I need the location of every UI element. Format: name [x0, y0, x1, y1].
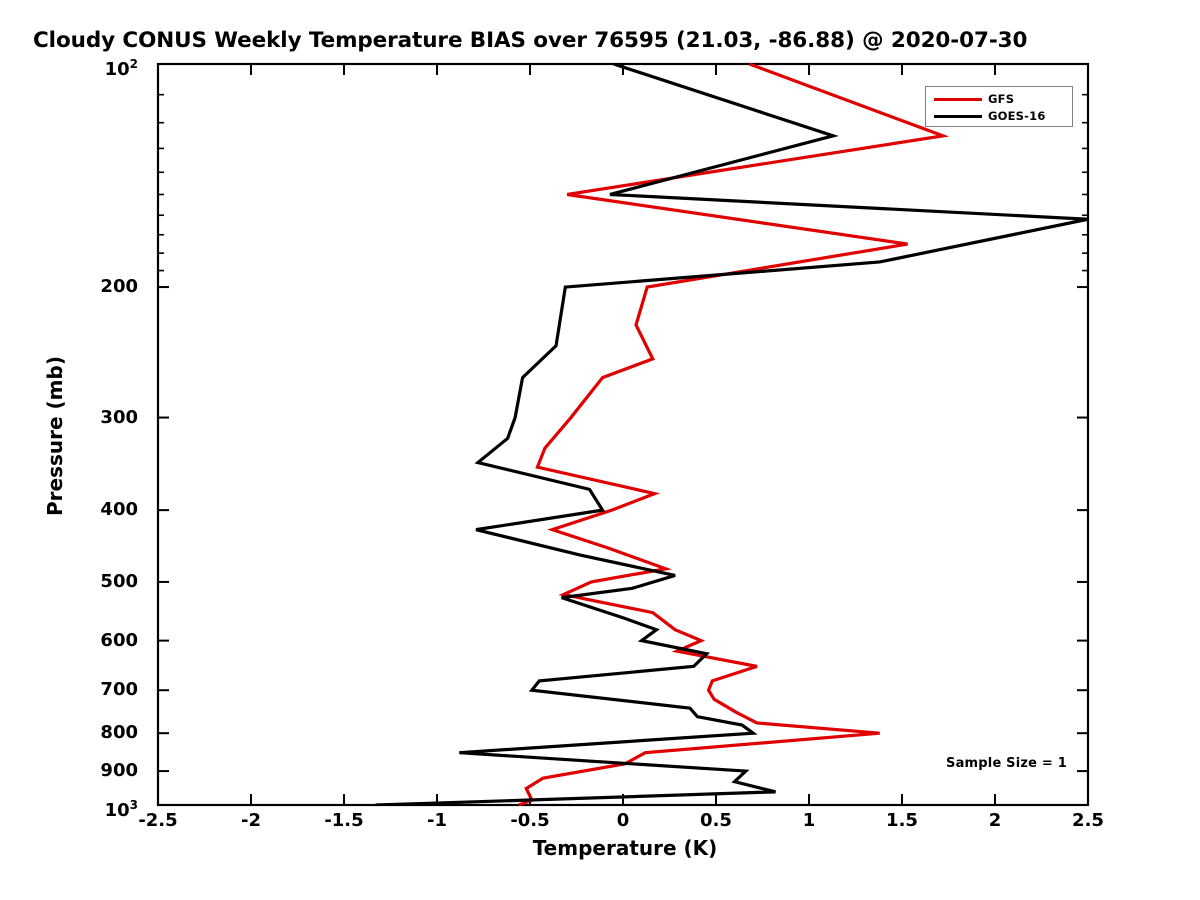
y-tick-label-8: 900	[48, 760, 138, 782]
legend-label: GOES-16	[988, 107, 1046, 125]
y-tick-label-0: 102	[48, 53, 138, 75]
x-tick-label-5: 0	[583, 810, 663, 831]
x-tick-label-8: 1.5	[862, 810, 942, 831]
x-tick-label-6: 0.5	[676, 810, 756, 831]
y-tick-label-4: 500	[48, 571, 138, 593]
x-tick-label-2: -1.5	[304, 810, 384, 831]
y-tick-label-7: 800	[48, 722, 138, 744]
series-line-gfs	[519, 64, 943, 805]
legend-swatch-line	[934, 115, 982, 118]
x-axis-label: Temperature (K)	[0, 836, 1200, 860]
x-tick-label-10: 2.5	[1048, 810, 1128, 831]
chart-legend: GFSGOES-16	[925, 86, 1073, 127]
y-tick-label-1: 200	[48, 276, 138, 298]
x-tick-label-9: 2	[955, 810, 1035, 831]
sample-size-annotation: Sample Size = 1	[946, 756, 1067, 771]
x-tick-label-1: -2	[211, 810, 291, 831]
legend-entry-goes-16: GOES-16	[926, 107, 1074, 125]
legend-label: GFS	[988, 90, 1014, 108]
exponent: 3	[130, 798, 138, 812]
figure-container: Cloudy CONUS Weekly Temperature BIAS ove…	[0, 0, 1200, 900]
y-tick-label-9: 103	[48, 794, 138, 816]
y-tick-label-5: 600	[48, 630, 138, 652]
series-line-goes-16	[376, 64, 1088, 805]
legend-entry-gfs: GFS	[926, 90, 1074, 108]
axes-frame	[158, 64, 1088, 805]
x-tick-label-7: 1	[769, 810, 849, 831]
x-tick-label-3: -1	[397, 810, 477, 831]
legend-swatch-line	[934, 98, 982, 101]
y-tick-label-2: 300	[48, 407, 138, 429]
y-tick-label-6: 700	[48, 679, 138, 701]
y-tick-label-3: 400	[48, 499, 138, 521]
exponent: 2	[130, 57, 138, 71]
x-tick-label-4: -0.5	[490, 810, 570, 831]
